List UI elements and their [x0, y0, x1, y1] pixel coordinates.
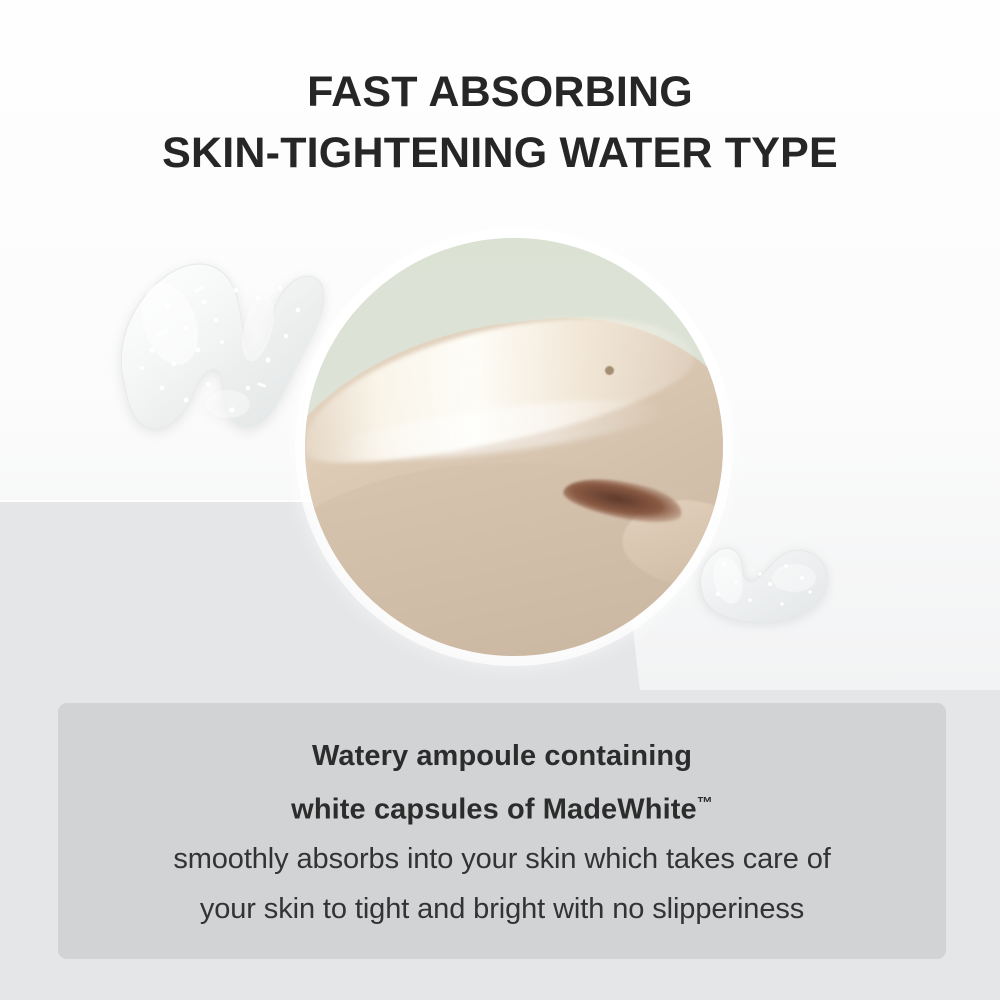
caption-regular-line-2: your skin to tight and bright with no sl… — [58, 884, 946, 934]
caption-regular-line-1: smoothly absorbs into your skin which ta… — [58, 834, 946, 884]
gel-swatch-left-image — [108, 232, 324, 454]
caption-panel: Watery ampoule containing white capsules… — [58, 703, 946, 959]
hero-circle-image — [305, 238, 723, 656]
page-title: FAST ABSORBING SKIN-TIGHTENING WATER TYP… — [0, 62, 1000, 184]
page-title-line-1: FAST ABSORBING — [0, 62, 1000, 123]
caption-bold-line-2-text: white capsules of MadeWhite — [291, 794, 697, 826]
caption-bold-line-2: white capsules of MadeWhite™ — [58, 780, 946, 834]
skin-mole-dot — [605, 366, 614, 375]
caption-bold-line-1: Watery ampoule containing — [58, 732, 946, 780]
promo-graphic: FAST ABSORBING SKIN-TIGHTENING WATER TYP… — [0, 0, 1000, 1000]
trademark-symbol: ™ — [697, 795, 713, 812]
page-title-line-2: SKIN-TIGHTENING WATER TYPE — [0, 123, 1000, 184]
gel-swatch-right-image — [690, 522, 838, 632]
